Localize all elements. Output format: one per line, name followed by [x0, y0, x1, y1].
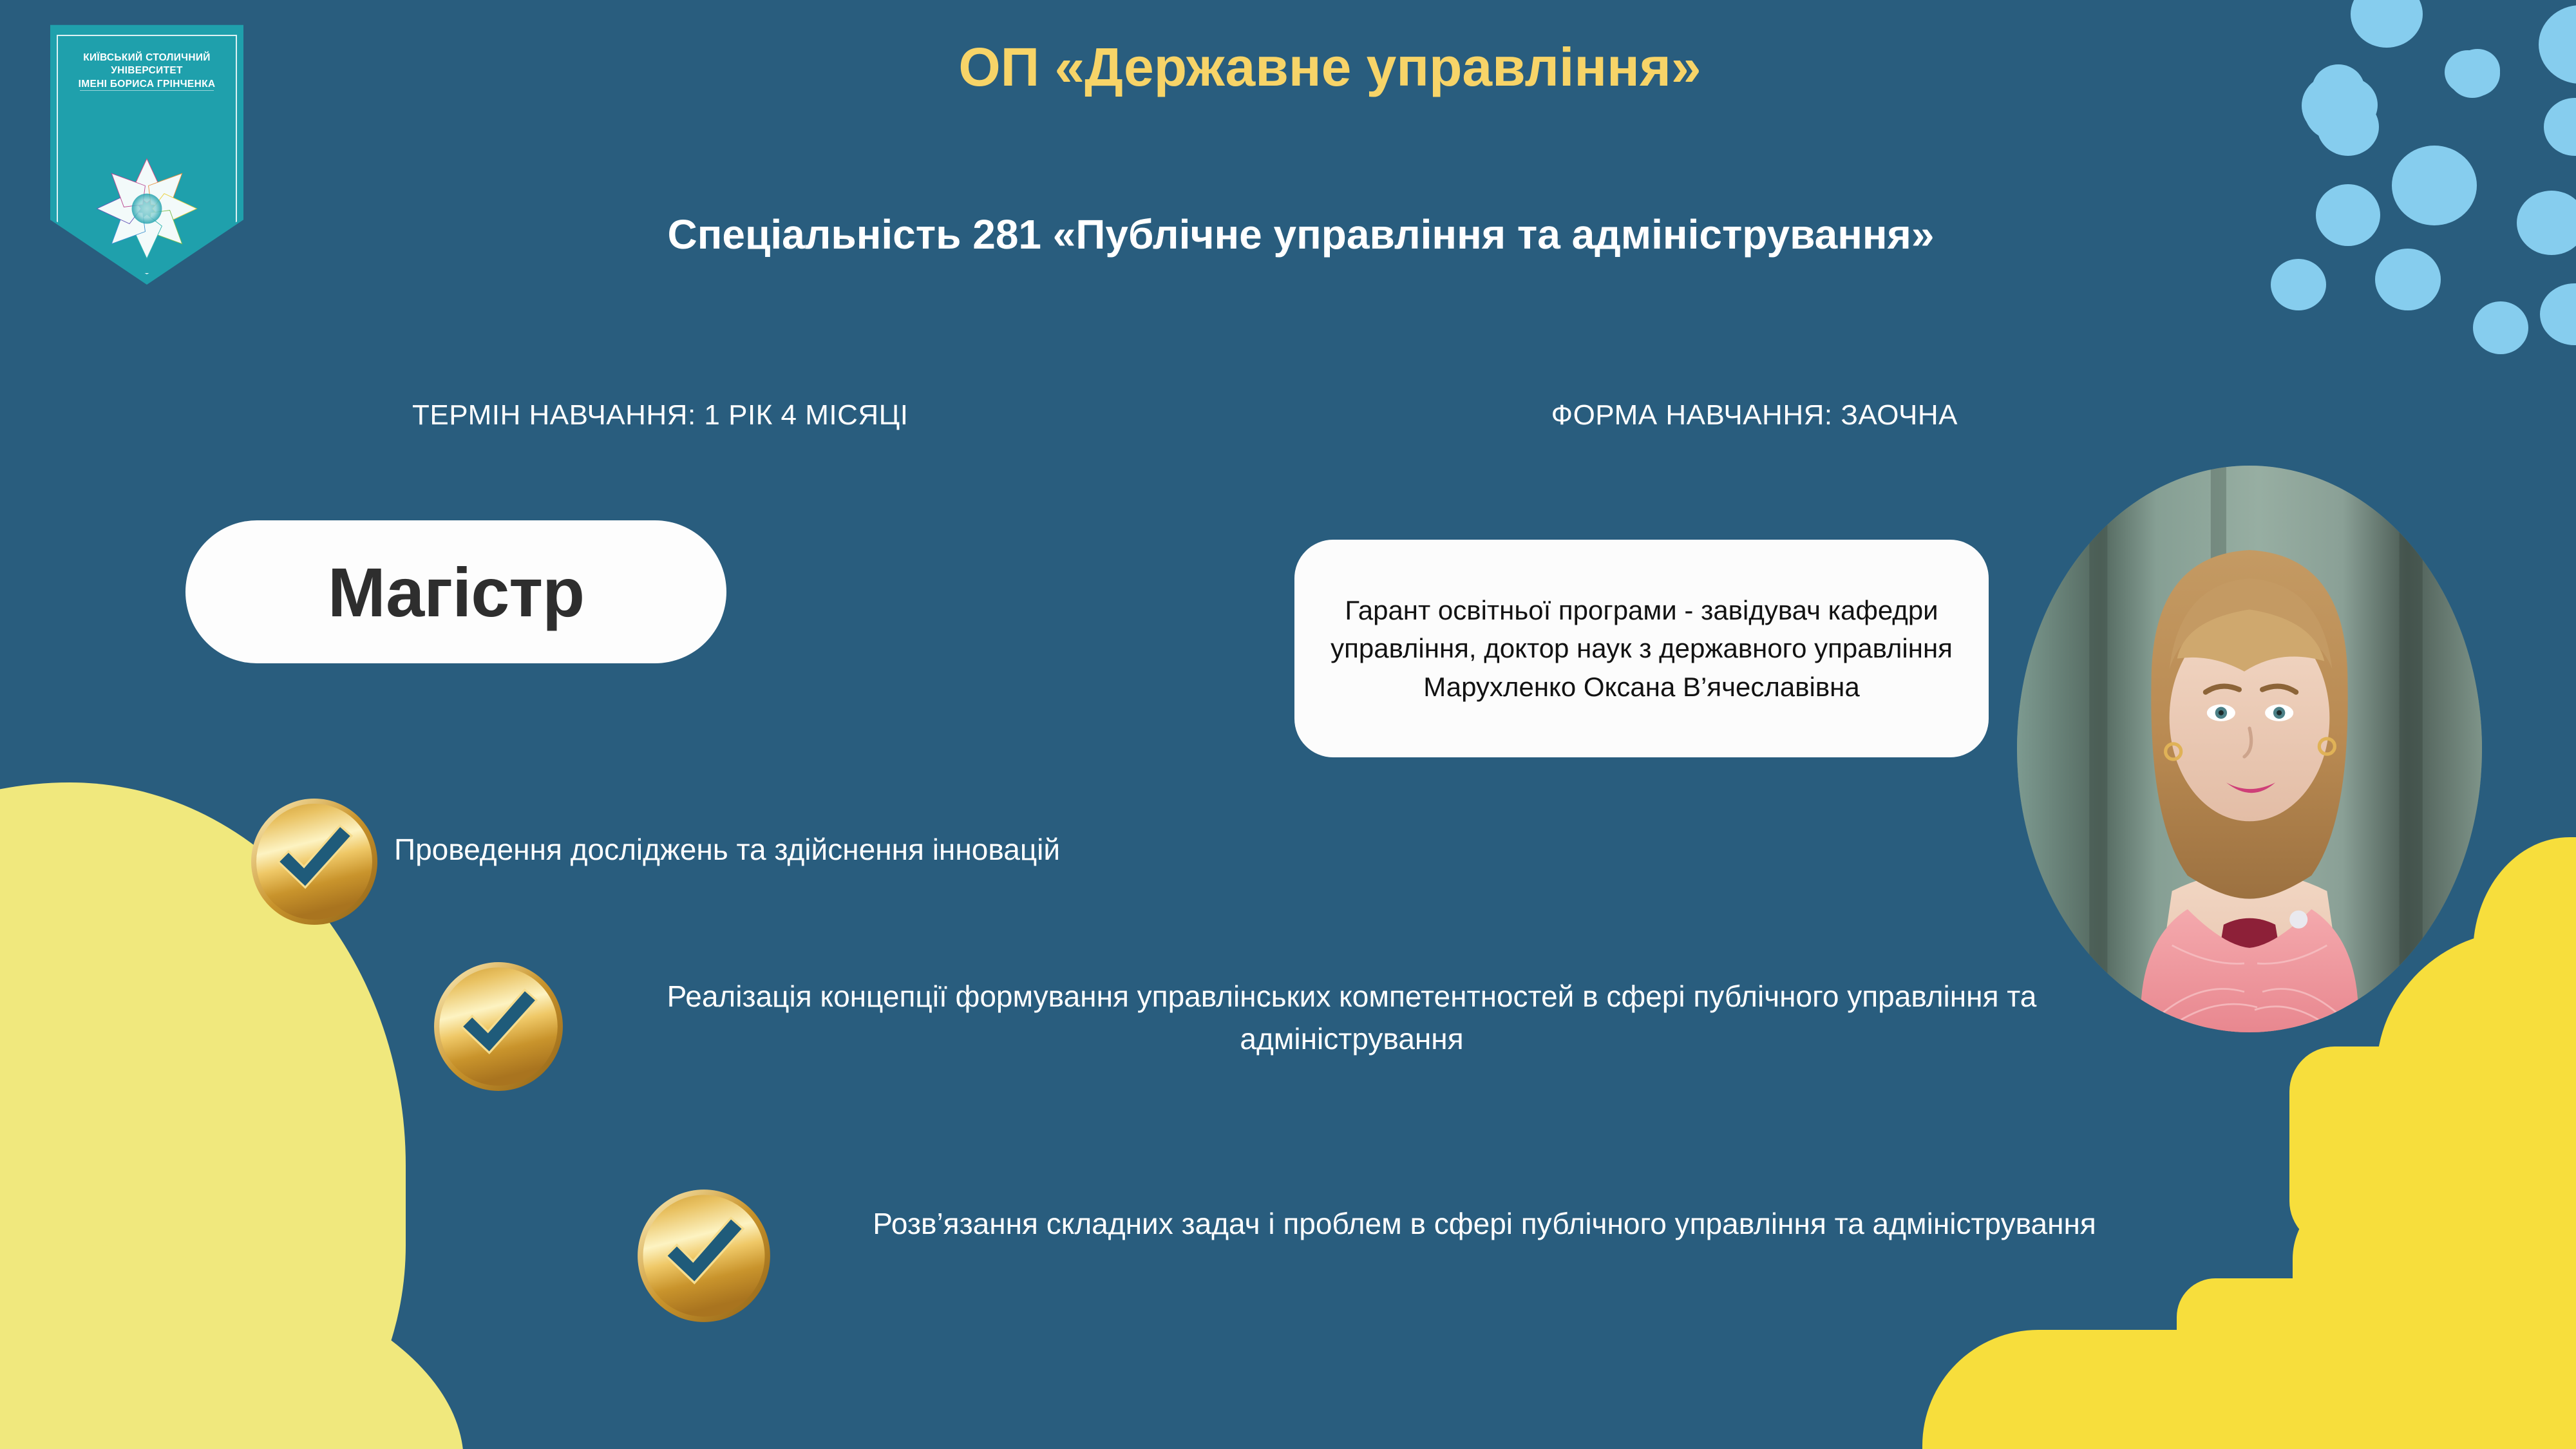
bright-yellow-blob	[2289, 1046, 2576, 1246]
grinchenko-star-emblem-icon	[89, 151, 205, 267]
gold-check-icon	[433, 961, 564, 1092]
blue-dot	[2392, 146, 2477, 225]
bright-yellow-blob	[2177, 1278, 2576, 1449]
blue-dot	[2517, 191, 2576, 255]
guarantor-card: Гарант освітньої програми - завідувач ка…	[1294, 540, 1989, 757]
list-item-label: Проведення досліджень та здійснення інно…	[394, 797, 1486, 871]
list-item: Розв’язання складних задач і проблем в с…	[636, 1188, 2182, 1323]
guarantor-text: Гарант освітньої програми - завідувач ка…	[1324, 591, 1959, 706]
list-item-label: Розв’язання складних задач і проблем в с…	[787, 1188, 2182, 1245]
page-subtitle: Спеціальність 281 «Публічне управління т…	[567, 206, 2035, 263]
list-item: Реалізація концепції формування управлін…	[433, 961, 2120, 1092]
bright-yellow-blob	[2376, 931, 2576, 1227]
study-form-label: ФОРМА НАВЧАННЯ: ЗАОЧНА	[1551, 399, 1958, 431]
blue-dot	[2375, 249, 2441, 310]
blue-dot	[2316, 184, 2380, 246]
gold-check-icon	[636, 1188, 772, 1323]
blue-dot	[2271, 259, 2326, 310]
blue-dot	[2473, 301, 2528, 354]
blue-dot	[2540, 283, 2576, 345]
degree-badge: Магістр	[185, 520, 726, 663]
bright-yellow-blob	[1922, 1330, 2450, 1449]
program-meta-row: ТЕРМІН НАВЧАННЯ: 1 РІК 4 МІСЯЦІ ФОРМА НА…	[412, 399, 1958, 431]
bright-yellow-blob	[2293, 1188, 2576, 1449]
gold-check-icon	[250, 797, 379, 926]
list-item: Проведення досліджень та здійснення інно…	[250, 797, 1486, 926]
page-title: ОП «Державне управління»	[0, 39, 2576, 95]
degree-label: Магістр	[328, 552, 584, 632]
blue-dot	[2317, 98, 2379, 156]
bright-yellow-blob	[2473, 837, 2576, 1069]
list-item-label: Реалізація концепції формування управлін…	[583, 961, 2120, 1060]
pale-yellow-blob	[0, 1243, 464, 1449]
study-duration-label: ТЕРМІН НАВЧАННЯ: 1 РІК 4 МІСЯЦІ	[412, 399, 908, 431]
guarantor-avatar	[2017, 466, 2482, 1032]
blue-dot	[2544, 98, 2576, 156]
